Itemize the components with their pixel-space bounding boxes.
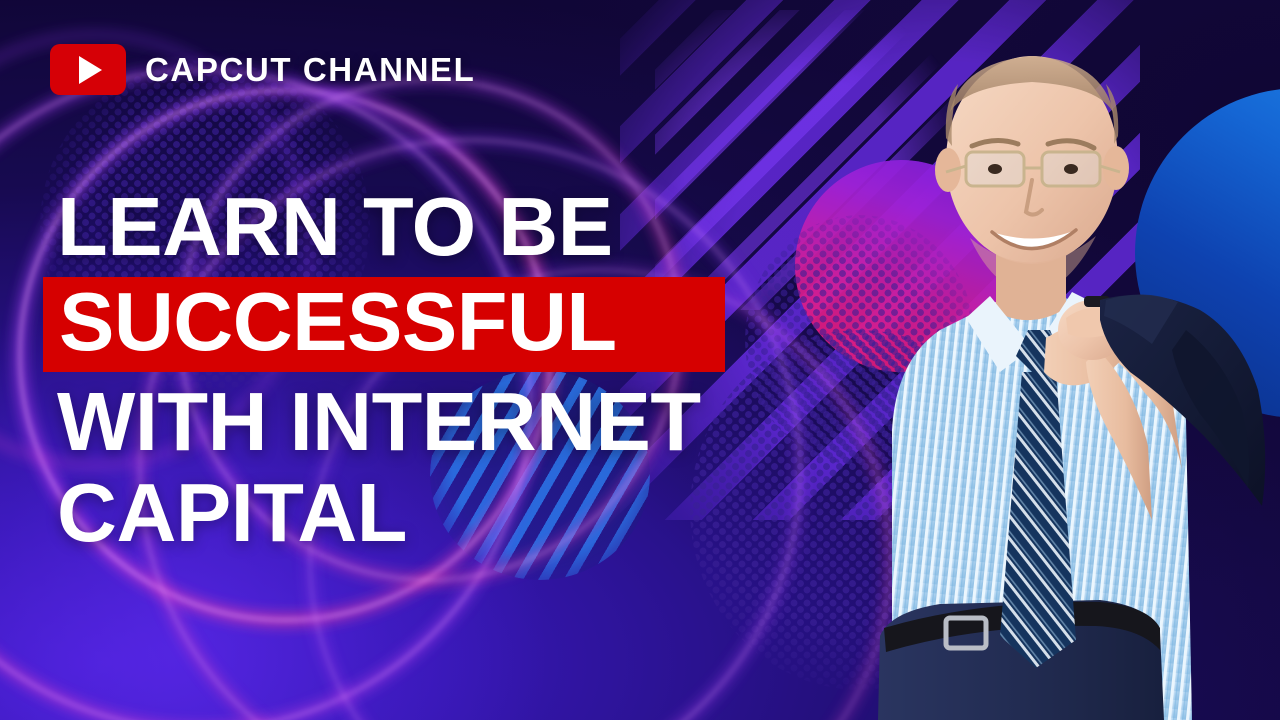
headline-line-3: WITH INTERNET <box>57 381 887 463</box>
headline-block: LEARN TO BE SUCCESSFUL WITH INTERNET CAP… <box>57 186 887 555</box>
headline-highlight-band: SUCCESSFUL <box>43 277 725 372</box>
play-triangle-icon <box>79 56 102 84</box>
headline-line-4: CAPITAL <box>57 472 887 554</box>
channel-name: CAPCUT CHANNEL <box>145 51 475 89</box>
youtube-play-icon[interactable] <box>50 44 126 95</box>
thumbnail-canvas: CAPCUT CHANNEL LEARN TO BE SUCCESSFUL WI… <box>0 0 1280 720</box>
headline-line-1: LEARN TO BE <box>57 186 887 268</box>
channel-logo-row[interactable]: CAPCUT CHANNEL <box>50 44 475 95</box>
headline-line-2: SUCCESSFUL <box>59 281 709 363</box>
